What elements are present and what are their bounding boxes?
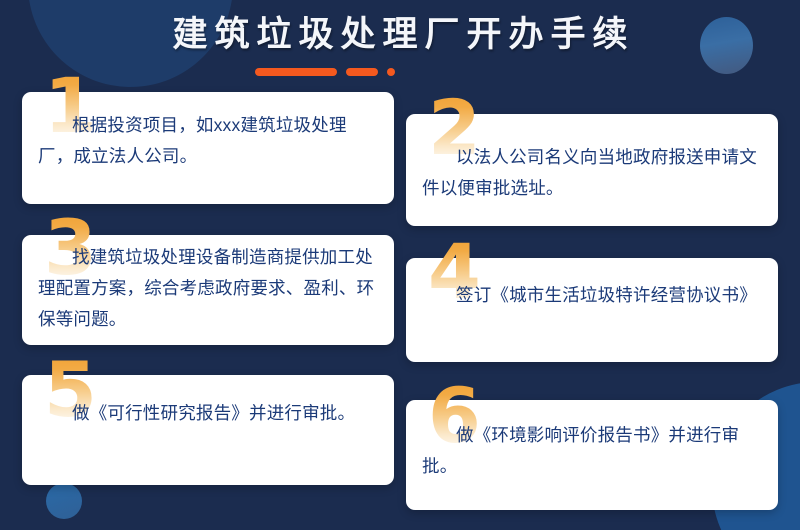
step-text-6: 做《环境影响评价报告书》并进行审批。 — [422, 420, 764, 482]
accent-bar-long — [255, 68, 337, 76]
decorative-circle-bottom-left — [46, 483, 82, 519]
title-accent-rule — [0, 68, 800, 76]
page-title: 建筑垃圾处理厂开办手续 — [0, 13, 800, 57]
accent-dot — [387, 68, 395, 76]
step-text-2: 以法人公司名义向当地政府报送申请文件以便审批选址。 — [422, 142, 764, 204]
step-text-4: 签订《城市生活垃圾特许经营协议书》 — [422, 280, 764, 311]
infographic-poster: 建筑垃圾处理厂开办手续 1 根据投资项目，如xxx建筑垃圾处理厂，成立法人公司。… — [0, 0, 800, 530]
step-text-3: 找建筑垃圾处理设备制造商提供加工处理配置方案，综合考虑政府要求、盈利、环保等问题… — [38, 242, 382, 335]
accent-bar-short — [346, 68, 378, 76]
step-text-5: 做《可行性研究报告》并进行审批。 — [38, 398, 380, 429]
header: 建筑垃圾处理厂开办手续 — [0, 0, 800, 90]
step-text-1: 根据投资项目，如xxx建筑垃圾处理厂，成立法人公司。 — [38, 110, 380, 172]
